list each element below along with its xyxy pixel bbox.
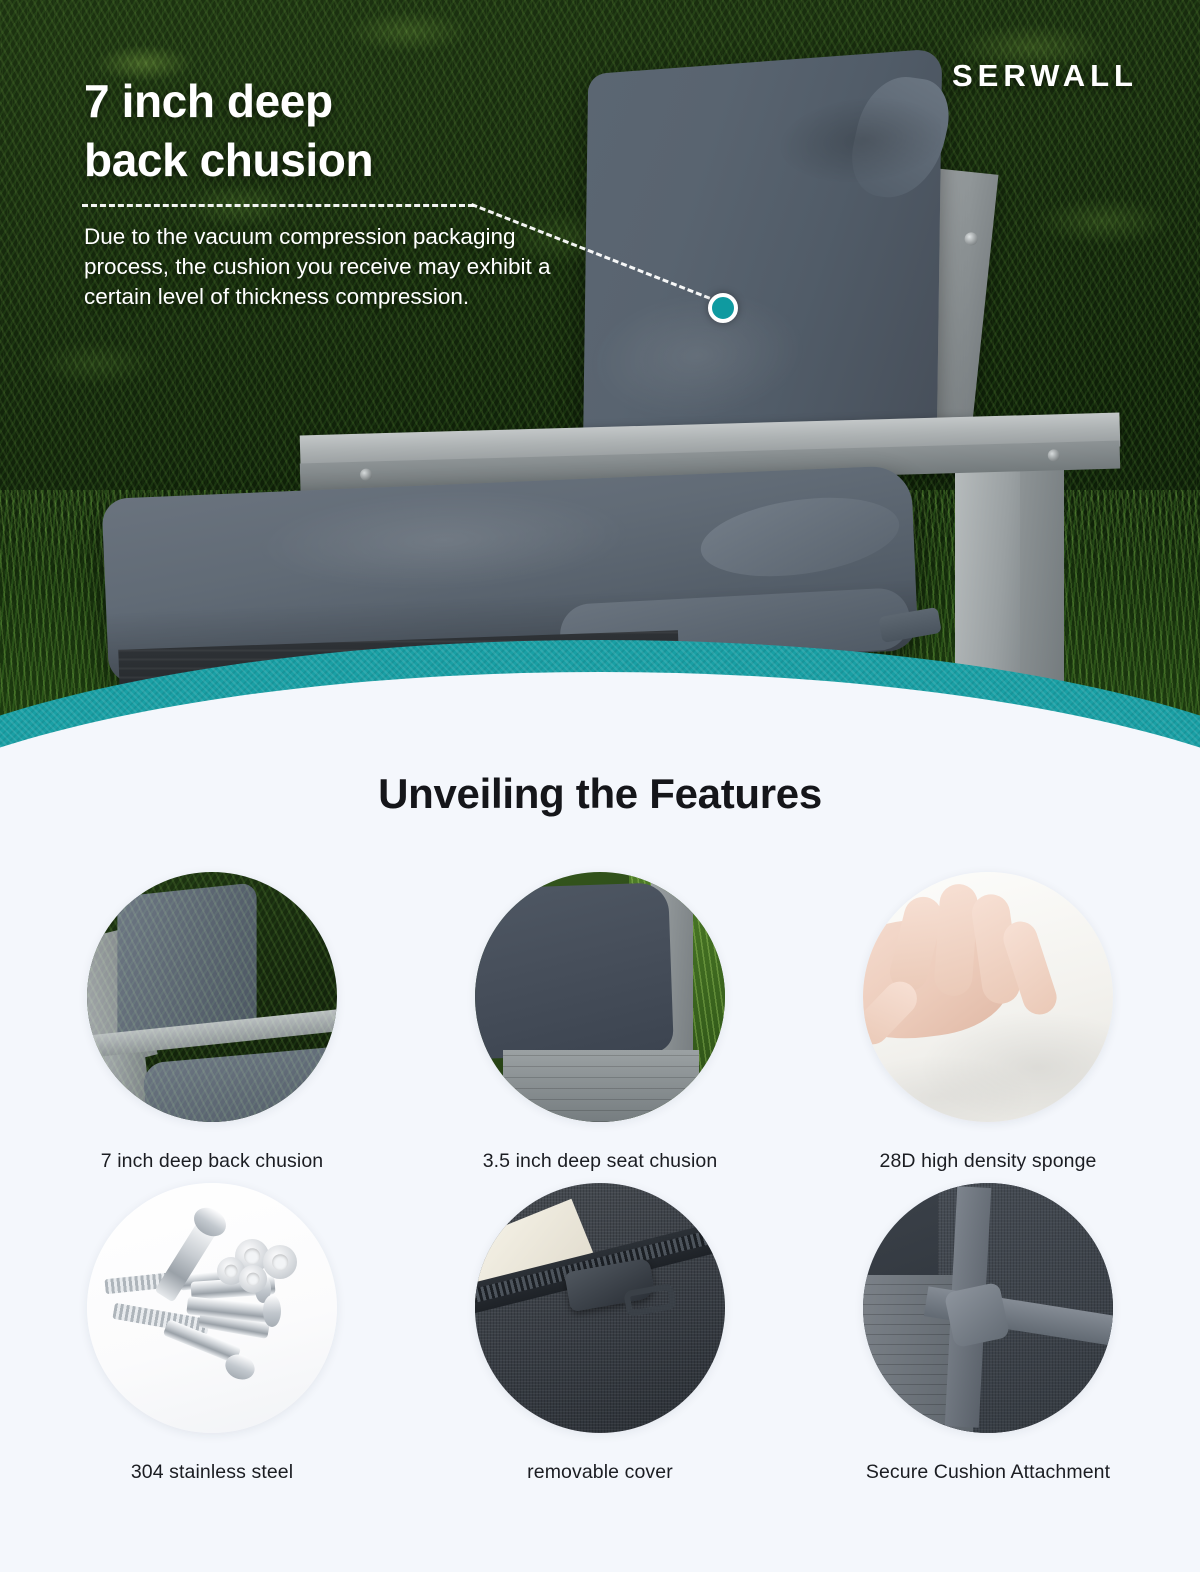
feature-item: 7 inch deep back chusion xyxy=(87,872,337,1173)
thumb-finger xyxy=(933,883,979,997)
feature-image-back-cushion xyxy=(87,872,337,1122)
back-cushion xyxy=(583,48,943,465)
callout-dashed-line-horizontal xyxy=(82,204,474,207)
callout-dot-icon xyxy=(708,293,738,323)
feature-caption: 3.5 inch deep seat chusion xyxy=(475,1150,725,1173)
hero-headline-line-1: 7 inch deep xyxy=(84,75,333,127)
feature-image-sponge xyxy=(863,872,1113,1122)
features-grid: 7 inch deep back chusion 3.5 inch deep s… xyxy=(0,872,1200,1494)
feature-caption: removable cover xyxy=(475,1461,725,1484)
bolt-icon xyxy=(964,232,978,246)
feature-item: 28D high density sponge xyxy=(863,872,1113,1173)
feature-item: Secure Cushion Attachment xyxy=(863,1183,1113,1484)
feature-image-seat-cushion xyxy=(475,872,725,1122)
feature-caption: 7 inch deep back chusion xyxy=(87,1150,337,1173)
hero-headline-line-2: back chusion xyxy=(84,134,373,186)
bolt-icon xyxy=(1048,449,1060,461)
thumb-strap-knot xyxy=(944,1282,1010,1348)
thumb-fabric-texture xyxy=(475,1183,725,1433)
bolt-icon xyxy=(360,468,372,480)
thumb-chair-base xyxy=(503,1050,699,1122)
feature-item: 3.5 inch deep seat chusion xyxy=(475,872,725,1173)
feature-caption: 28D high density sponge xyxy=(863,1150,1113,1173)
feature-image-removable-cover xyxy=(475,1183,725,1433)
thumb-foliage-texture xyxy=(87,872,337,1122)
hero-headline: 7 inch deep back chusion xyxy=(84,72,604,190)
thumb-nut xyxy=(239,1265,267,1293)
brand-logo: SERWALL xyxy=(952,58,1138,94)
features-row-1: 7 inch deep back chusion 3.5 inch deep s… xyxy=(0,872,1200,1173)
thumb-seat-cushion xyxy=(475,882,674,1060)
feature-item: 304 stainless steel xyxy=(87,1183,337,1484)
feature-image-cushion-attachment xyxy=(863,1183,1113,1433)
features-row-2: 304 stainless steel removable cover Sec xyxy=(0,1183,1200,1484)
hero-body-text: Due to the vacuum compression packaging … xyxy=(84,222,574,312)
thumb-washer xyxy=(263,1245,297,1279)
thumb-bolt-head xyxy=(263,1295,281,1327)
feature-item: removable cover xyxy=(475,1183,725,1484)
features-title: Unveiling the Features xyxy=(0,770,1200,818)
feature-caption: Secure Cushion Attachment xyxy=(863,1461,1113,1484)
feature-image-stainless-steel xyxy=(87,1183,337,1433)
feature-caption: 304 stainless steel xyxy=(87,1461,337,1484)
